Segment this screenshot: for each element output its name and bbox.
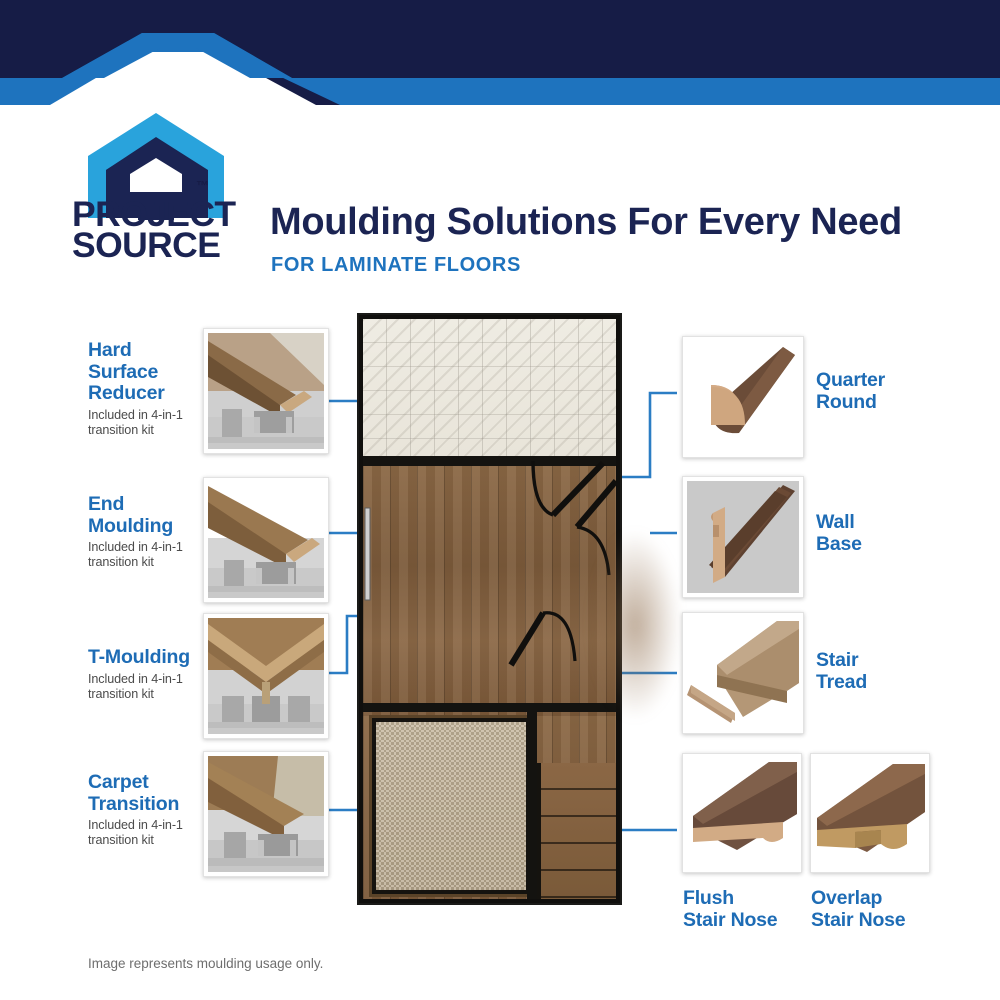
- label-note: Included in 4-in-1 transition kit: [88, 818, 213, 848]
- label-stair-tread: Stair Tread: [816, 650, 946, 693]
- footnote-text: Image represents moulding usage only.: [88, 956, 323, 971]
- label-wall-base: Wall Base: [816, 512, 946, 555]
- label-title: Stair Tread: [816, 650, 946, 693]
- label-hard-surface-reducer: Hard Surface Reducer Included in 4-in-1 …: [88, 340, 198, 438]
- label-end-moulding: End Moulding Included in 4-in-1 transiti…: [88, 494, 203, 570]
- trademark-symbol: ™: [196, 178, 209, 193]
- page-subtitle: FOR LAMINATE FLOORS: [271, 254, 521, 277]
- overlap-stair-nose-profile-image: [815, 758, 925, 868]
- label-t-moulding: T-Moulding Included in 4-in-1 transition…: [88, 647, 213, 702]
- stair-tread-profile-image: [687, 617, 799, 729]
- label-overlap-stair-nose: Overlap Stair Nose: [811, 888, 946, 931]
- product-card-hard-surface-reducer[interactable]: [203, 328, 329, 454]
- label-note: Included in 4-in-1 transition kit: [88, 672, 213, 702]
- label-title: Wall Base: [816, 512, 946, 555]
- product-card-wall-base[interactable]: [682, 476, 804, 598]
- label-title: Carpet Transition: [88, 772, 213, 815]
- wall-base-profile-image: [687, 481, 799, 593]
- product-card-t-moulding[interactable]: [203, 613, 329, 739]
- quarter-round-profile-image: [687, 341, 799, 453]
- label-note: Included in 4-in-1 transition kit: [88, 408, 198, 438]
- product-card-flush-stair-nose[interactable]: [682, 753, 802, 873]
- product-card-quarter-round[interactable]: [682, 336, 804, 458]
- infographic-page: ™ PROJECT SOURCE Moulding Solutions For …: [0, 0, 1000, 1000]
- product-card-carpet-transition[interactable]: [203, 751, 329, 877]
- product-card-overlap-stair-nose[interactable]: [810, 753, 930, 873]
- t-moulding-profile-image: [208, 618, 324, 734]
- product-card-stair-tread[interactable]: [682, 612, 804, 734]
- flush-stair-nose-profile-image: [687, 758, 797, 868]
- label-quarter-round: Quarter Round: [816, 370, 946, 413]
- plan-doors-and-walls: [357, 313, 622, 905]
- label-title: Hard Surface Reducer: [88, 340, 198, 405]
- label-title: Flush Stair Nose: [683, 888, 808, 931]
- top-banner: [0, 0, 1000, 105]
- brand-wordmark: PROJECT SOURCE: [72, 199, 302, 261]
- floor-plan-diagram: [357, 313, 622, 905]
- end-moulding-profile-image: [208, 482, 324, 598]
- plan-soft-shadow: [590, 530, 680, 720]
- hard-surface-reducer-profile-image: [208, 333, 324, 449]
- carpet-transition-profile-image: [208, 756, 324, 872]
- label-title: Quarter Round: [816, 370, 946, 413]
- label-title: End Moulding: [88, 494, 203, 537]
- label-title: T-Moulding: [88, 647, 213, 669]
- banner-roof-peak-icon: [0, 0, 1000, 105]
- label-title: Overlap Stair Nose: [811, 888, 946, 931]
- product-card-end-moulding[interactable]: [203, 477, 329, 603]
- page-title: Moulding Solutions For Every Need: [270, 201, 902, 244]
- label-carpet-transition: Carpet Transition Included in 4-in-1 tra…: [88, 772, 213, 848]
- label-note: Included in 4-in-1 transition kit: [88, 540, 203, 570]
- label-flush-stair-nose: Flush Stair Nose: [683, 888, 808, 931]
- brand-line-2: SOURCE: [72, 230, 302, 261]
